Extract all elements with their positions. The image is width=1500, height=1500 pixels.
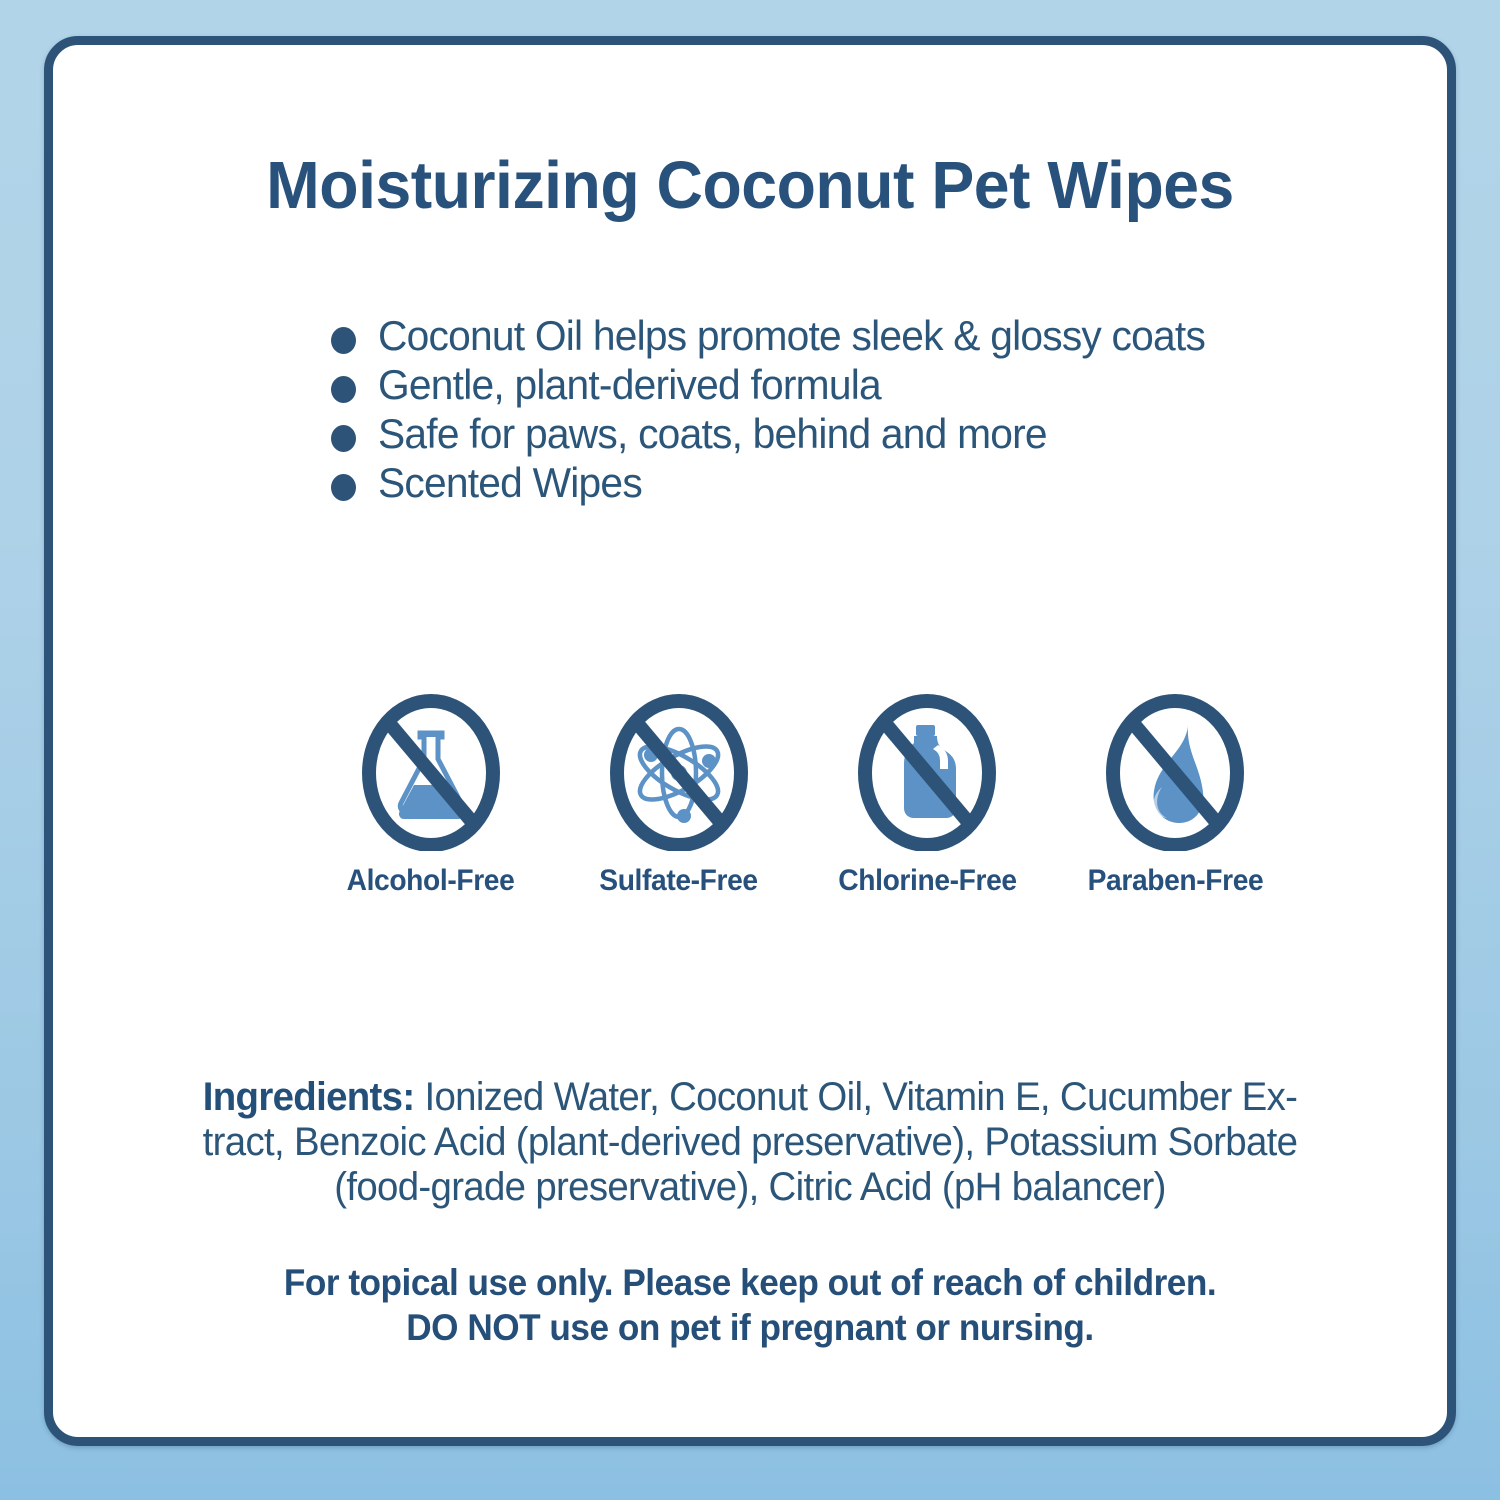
benefit-text: Coconut Oil helps promote sleek & glossy… <box>378 313 1205 359</box>
benefit-text: Safe for paws, coats, behind and more <box>378 411 1047 457</box>
page-title: Moisturizing Coconut Pet Wipes <box>81 149 1419 223</box>
no-jug-icon <box>852 691 1002 851</box>
no-flask-icon <box>356 691 506 851</box>
bullet-dot-icon <box>331 474 356 501</box>
list-item: Safe for paws, coats, behind and more <box>331 411 1331 457</box>
badge-sulfate-free: Sulfate-Free <box>571 691 786 898</box>
benefit-text: Gentle, plant-derived formula <box>378 362 881 408</box>
no-atom-icon <box>604 691 754 851</box>
badge-paraben-free: Paraben-Free <box>1068 691 1283 898</box>
bullet-dot-icon <box>331 327 356 354</box>
benefit-text: Scented Wipes <box>378 460 642 506</box>
list-item: Coconut Oil helps promote sleek & glossy… <box>331 313 1331 359</box>
warning-block: For topical use only. Please keep out of… <box>53 1260 1447 1350</box>
no-droplet-icon <box>1100 691 1250 851</box>
ingredients-heading: Ingredients: <box>203 1075 415 1119</box>
badge-label: Sulfate-Free <box>578 864 780 898</box>
ingredients-line-3: (food-grade preservative), Citric Acid (… <box>81 1165 1419 1210</box>
badge-label: Alcohol-Free <box>329 864 531 898</box>
badge-chlorine-free: Chlorine-Free <box>820 691 1035 898</box>
badge-label: Chlorine-Free <box>826 864 1028 898</box>
ingredients-line-2: tract, Benzoic Acid (plant-derived prese… <box>81 1120 1419 1165</box>
warning-line-2: DO NOT use on pet if pregnant or nursing… <box>88 1305 1412 1350</box>
ingredients-line-1: Ionized Water, Coconut Oil, Vitamin E, C… <box>414 1075 1297 1119</box>
warning-line-1: For topical use only. Please keep out of… <box>88 1260 1412 1305</box>
badge-label: Paraben-Free <box>1074 864 1276 898</box>
free-from-badges: Alcohol-Free <box>323 691 1283 898</box>
ingredients-block: Ingredients: Ionized Water, Coconut Oil,… <box>53 1075 1447 1210</box>
list-item: Scented Wipes <box>331 460 1331 506</box>
bullet-dot-icon <box>331 425 356 452</box>
product-label-image: Moisturizing Coconut Pet Wipes Coconut O… <box>0 0 1500 1500</box>
list-item: Gentle, plant-derived formula <box>331 362 1331 408</box>
benefits-list: Coconut Oil helps promote sleek & glossy… <box>331 313 1331 509</box>
label-card: Moisturizing Coconut Pet Wipes Coconut O… <box>44 36 1456 1446</box>
bullet-dot-icon <box>331 376 356 403</box>
badge-alcohol-free: Alcohol-Free <box>323 691 538 898</box>
